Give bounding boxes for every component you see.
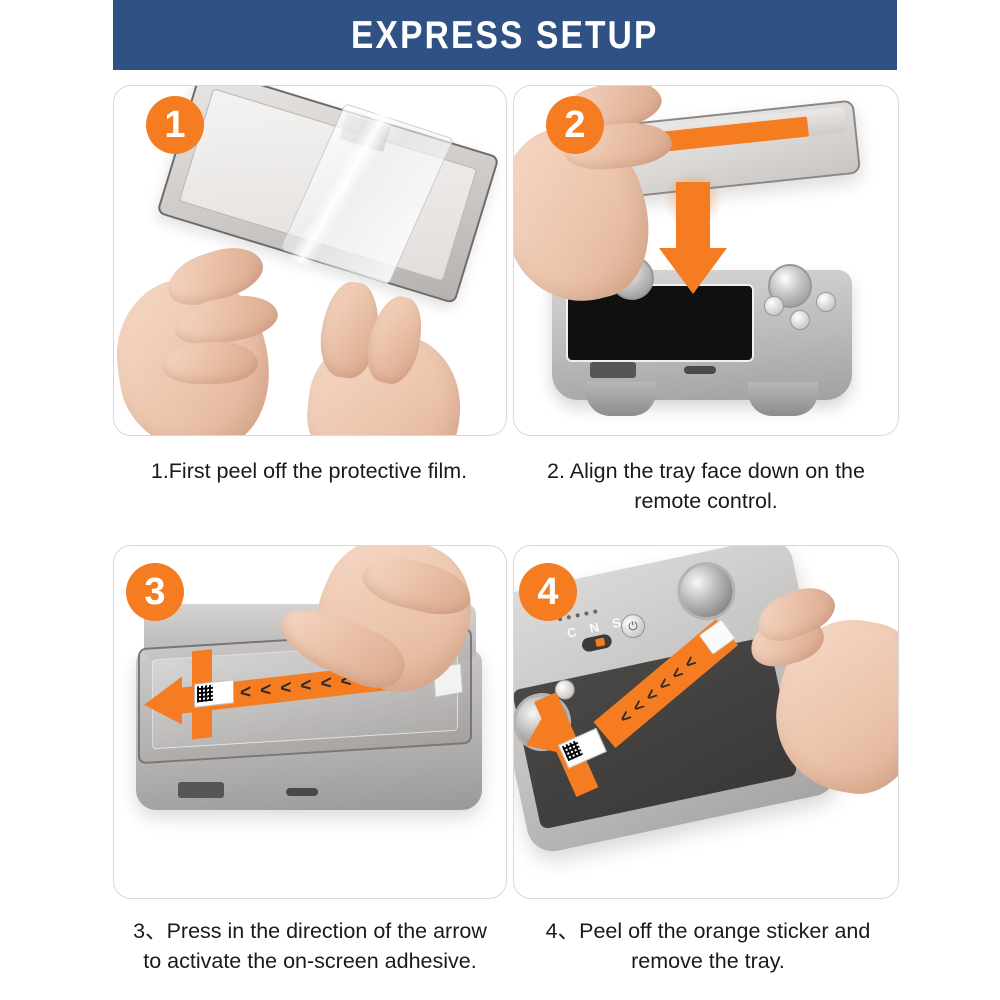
control-stick-right bbox=[672, 557, 741, 626]
remote-speaker bbox=[178, 782, 224, 798]
step-caption-4: 4、Peel off the orange sticker and remove… bbox=[513, 916, 903, 976]
usb-port bbox=[286, 788, 318, 796]
hand-icon bbox=[750, 584, 899, 804]
hand-icon-right bbox=[282, 278, 472, 436]
remote-grip-left bbox=[586, 382, 656, 416]
step-caption-2: 2. Align the tray face down on the remot… bbox=[510, 456, 902, 516]
remote-grip-right bbox=[748, 382, 818, 416]
status-led bbox=[593, 609, 598, 614]
usb-port bbox=[684, 366, 716, 374]
remote-button bbox=[764, 296, 784, 316]
sticker-qr-label bbox=[194, 679, 234, 708]
qr-code-icon bbox=[197, 685, 213, 703]
status-led bbox=[584, 611, 589, 616]
step-badge-2: 2 bbox=[546, 96, 604, 154]
pointing-finger-icon bbox=[266, 545, 476, 754]
step-caption-1: 1.First peel off the protective film. bbox=[113, 456, 505, 486]
chevron-left-icon: < bbox=[240, 682, 251, 705]
status-led bbox=[575, 613, 580, 618]
qr-code-icon bbox=[562, 740, 583, 761]
remote-button bbox=[790, 310, 810, 330]
remote-button bbox=[816, 292, 836, 312]
step-badge-3: 3 bbox=[126, 563, 184, 621]
hand-icon-left bbox=[118, 246, 290, 436]
remote-speaker bbox=[590, 362, 636, 378]
step-badge-4: 4 bbox=[519, 563, 577, 621]
step-caption-3: 3、Press in the direction of the arrow to… bbox=[110, 916, 510, 976]
status-led bbox=[566, 615, 571, 620]
steps-grid: < < < < < < bbox=[0, 0, 1000, 1000]
step-badge-1: 1 bbox=[146, 96, 204, 154]
